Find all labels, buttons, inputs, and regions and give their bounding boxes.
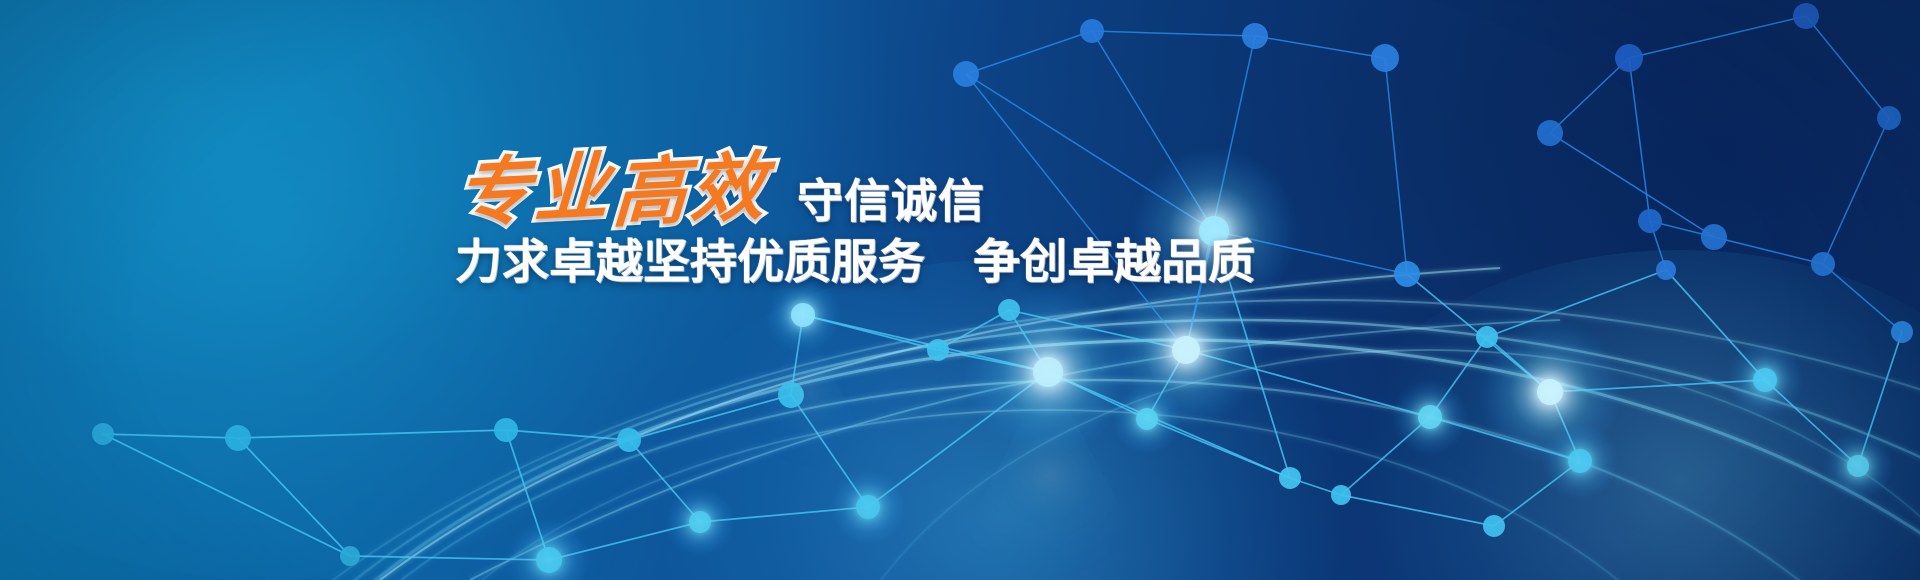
network-edge [238,430,506,438]
network-node [1701,224,1727,250]
network-node [856,495,880,519]
network-edge [1629,16,1806,58]
network-node [1537,379,1563,405]
network-node [1080,19,1104,43]
network-edge [1823,118,1889,264]
slogan-line-2: 力求卓越坚持优质服务 争创卓越品质 [455,236,1415,288]
network-edge [1806,16,1889,118]
network-node [1537,120,1563,146]
slogan-highlight-gaoxiao: 高效 [611,151,770,230]
network-edge [103,434,350,556]
network-node [1331,485,1351,505]
network-node [1638,209,1662,233]
slogan-plain-shouxinchengxin: 守信诚信 [797,178,985,224]
network-edge [1255,36,1385,58]
network-graphic [0,0,1920,580]
network-node [1753,368,1777,392]
network-edge [966,31,1092,74]
network-edge [1550,58,1629,133]
slogan-block: 专业 高效 守信诚信 力求卓越坚持优质服务 争创卓越品质 [455,138,1415,288]
network-node [92,423,114,445]
network-node [1615,44,1643,72]
network-edge [1550,133,1714,237]
slogan-line-1: 专业 高效 守信诚信 [455,138,1415,230]
network-node [1242,23,1268,49]
network-node [1476,326,1498,348]
slogan-line2-part1: 力求卓越坚持优质服务 [455,235,925,288]
network-node [1483,515,1505,537]
network-edge [238,438,350,556]
slogan-line2-part2: 争创卓越品质 [973,235,1255,288]
network-node [998,299,1020,321]
network-node [953,61,979,87]
network-node [1656,260,1676,280]
network-node [340,546,360,566]
network-node [536,547,562,573]
network-node [1136,408,1158,430]
network-node [617,428,641,452]
network-edge [1629,58,1650,221]
network-node [1418,405,1442,429]
network-node [1279,467,1301,489]
network-node [1371,44,1399,72]
network-node [1891,321,1913,343]
network-node [1811,252,1835,276]
network-edge [1092,31,1255,36]
slogan-highlight-zhuanye: 专业 [455,151,614,230]
network-node [689,511,711,533]
network-node [927,339,949,361]
network-node [225,425,251,451]
network-node [1172,336,1200,364]
network-node [494,418,518,442]
banner-root: 专业 高效 守信诚信 力求卓越坚持优质服务 争创卓越品质 [0,0,1920,580]
network-node [1793,3,1819,29]
network-edge [103,434,238,438]
network-node [1877,106,1901,130]
network-edge [1714,237,1823,264]
network-edge [1341,495,1494,526]
network-node [1847,455,1869,477]
network-node [1568,449,1592,473]
network-edge [1823,264,1902,332]
